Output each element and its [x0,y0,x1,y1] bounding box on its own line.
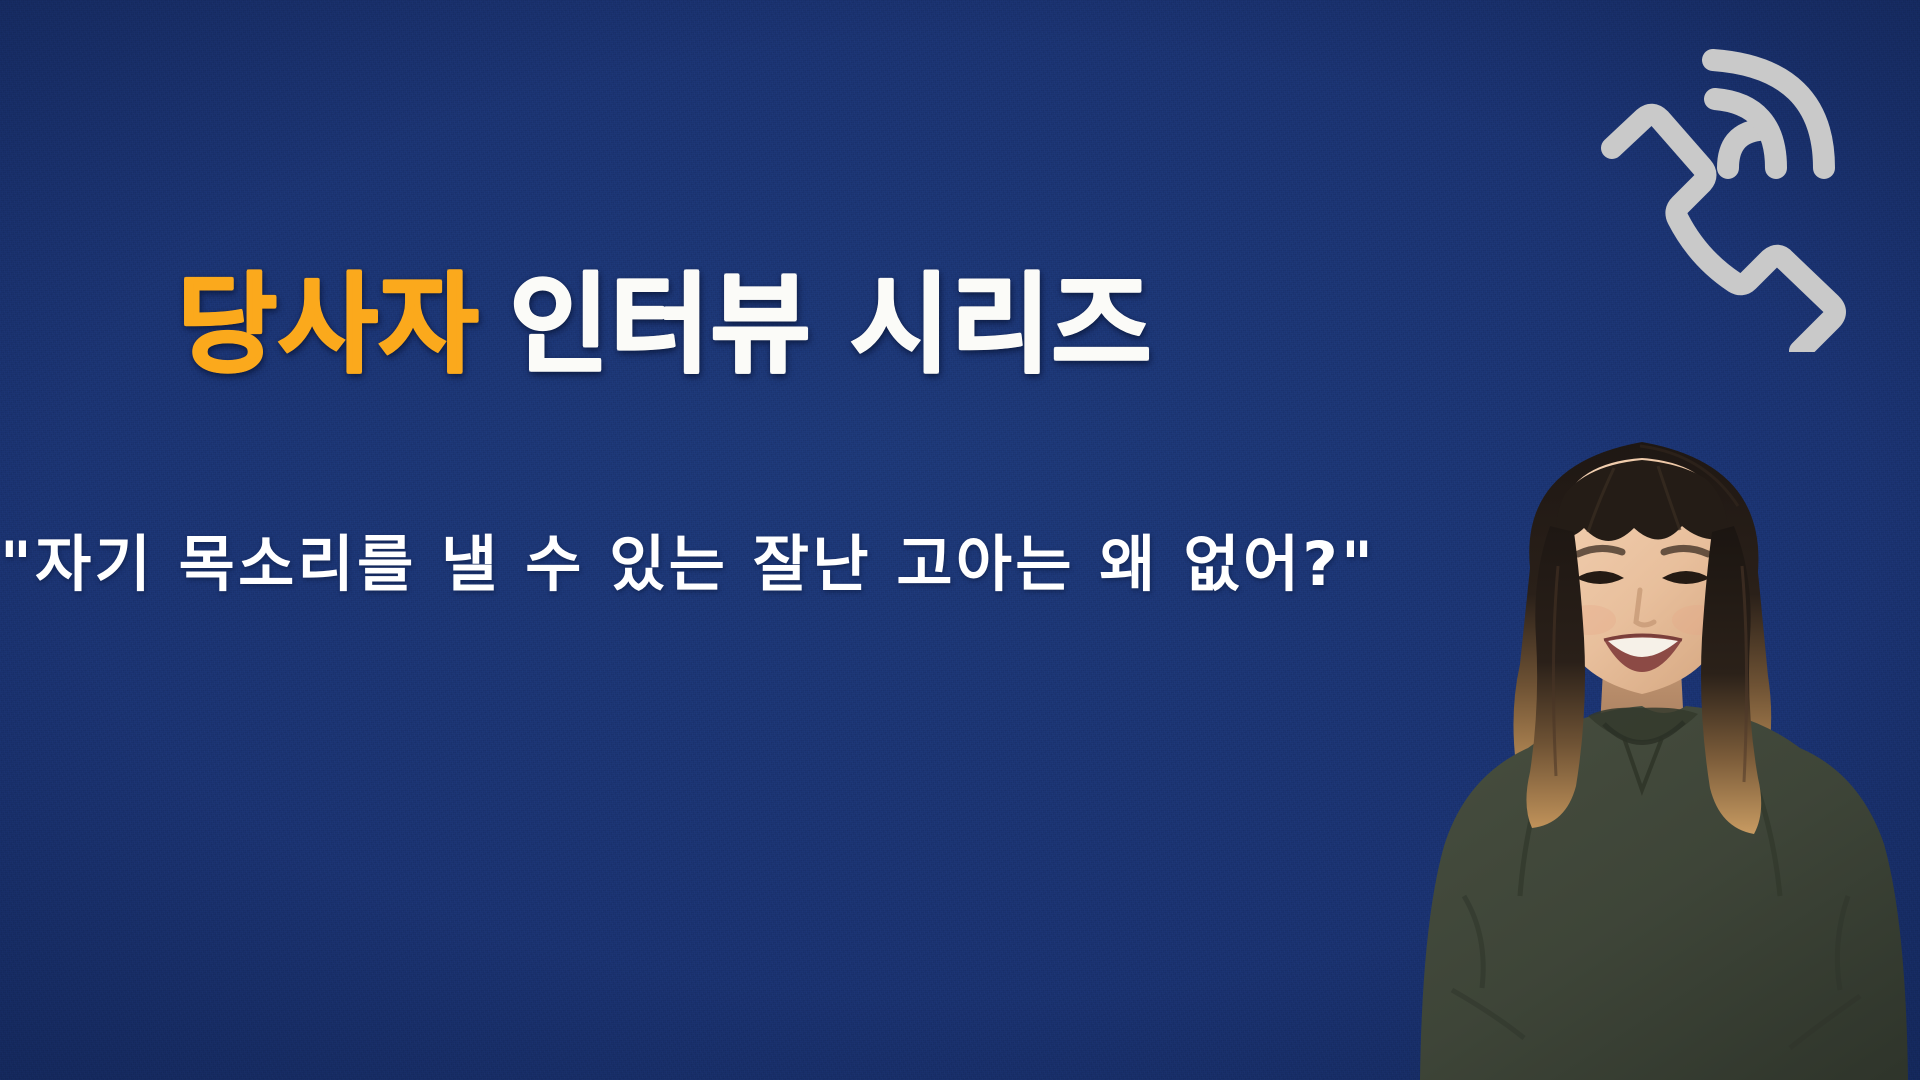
title-rest: 인터뷰 시리즈 [510,262,1153,389]
title-highlight: 당사자 [178,262,480,389]
title-block: 당사자인터뷰 시리즈 [0,262,1330,389]
video-thumbnail-canvas: 당사자인터뷰 시리즈 "자기 목소리를 낼 수 있는 잘난 고아는 왜 없어?" [0,0,1920,1080]
subtitle-quote: "자기 목소리를 낼 수 있는 잘난 고아는 왜 없어?" [0,528,1376,601]
subtitle-block: "자기 목소리를 낼 수 있는 잘난 고아는 왜 없어?" [0,528,1360,601]
phone-ringing-icon [1552,42,1892,352]
interviewee-portrait [1408,376,1920,1080]
